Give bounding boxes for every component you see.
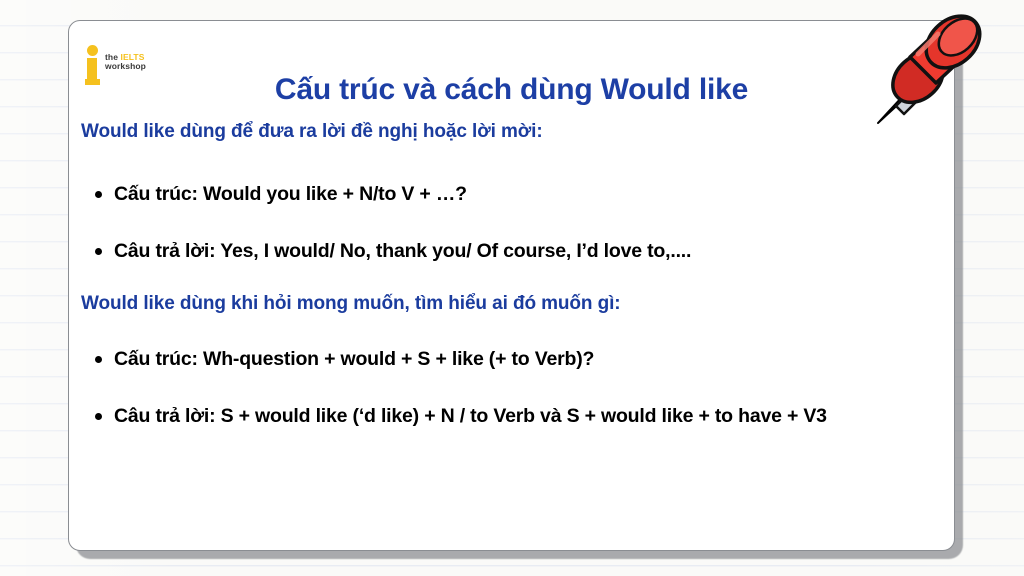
logo-wordmark: the IELTS workshop <box>105 53 146 71</box>
bullet-dot-icon <box>95 413 102 420</box>
bullet-dot-icon <box>95 356 102 363</box>
section-heading-1: Would like dùng để đưa ra lời đề nghị ho… <box>81 121 936 143</box>
bullet-text-2-1: Cấu trúc: Wh-question + would + S + like… <box>114 346 594 372</box>
slide-card: the IELTS workshop Cấu trúc và cách dùng… <box>68 20 955 551</box>
logo-workshop-text: workshop <box>105 62 146 71</box>
list-item: Câu trả lời: S + would like (‘d like) + … <box>95 403 936 429</box>
bullet-text-2-2: Câu trả lời: S + would like (‘d like) + … <box>114 403 827 429</box>
bullet-dot-icon <box>95 191 102 198</box>
page-title: Cấu trúc và cách dùng Would like <box>69 73 954 107</box>
list-item: Cấu trúc: Would you like + N/to V + …? <box>95 181 936 207</box>
bullet-dot-icon <box>95 248 102 255</box>
list-item: Cấu trúc: Wh-question + would + S + like… <box>95 346 936 372</box>
list-item: Câu trả lời: Yes, I would/ No, thank you… <box>95 238 936 264</box>
slide-content: Would like dùng để đưa ra lời đề nghị ho… <box>81 121 936 429</box>
logo-i-dot <box>87 45 98 56</box>
section-heading-2: Would like dùng khi hỏi mong muốn, tìm h… <box>81 293 936 315</box>
bullet-text-1-2: Câu trả lời: Yes, I would/ No, thank you… <box>114 238 691 264</box>
bullet-text-1-1: Cấu trúc: Would you like + N/to V + …? <box>114 181 467 207</box>
